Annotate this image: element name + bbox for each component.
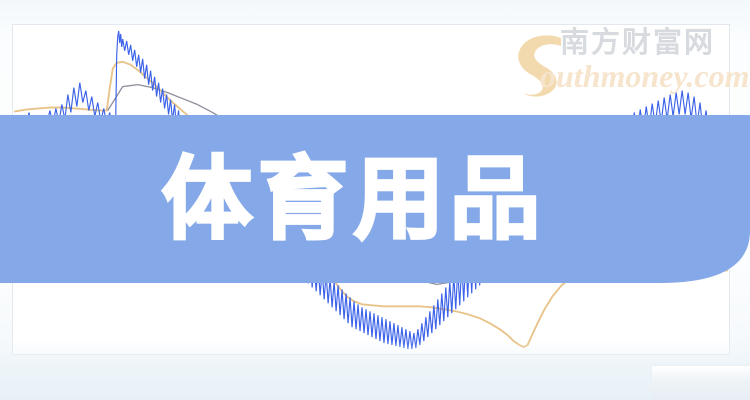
- moving-average-orange-line: [15, 62, 727, 347]
- chart-svg: [13, 25, 729, 354]
- banner-image: 体育用品 南方财富网 outhmoney.com: [0, 0, 750, 400]
- price-line: [14, 31, 727, 349]
- stock-chart-panel: [12, 24, 730, 355]
- bottom-gradient: [0, 340, 750, 400]
- corner-plate: [651, 365, 750, 400]
- chart-plot-area: [13, 25, 729, 354]
